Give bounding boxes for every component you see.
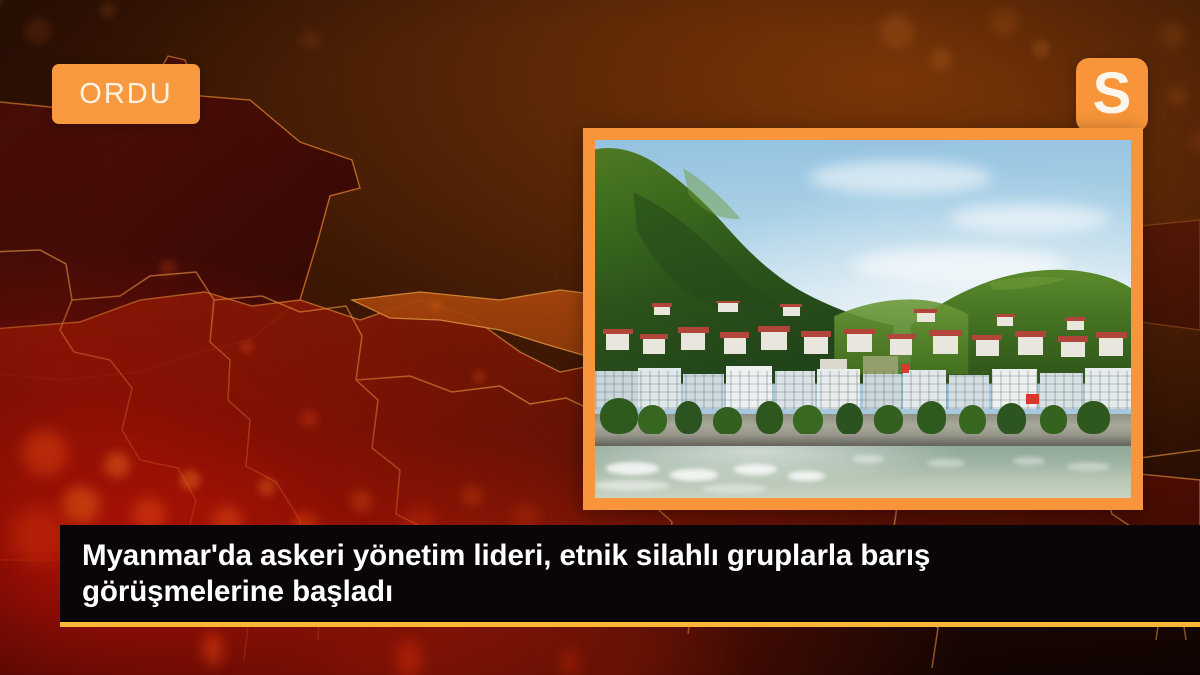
photo-frame xyxy=(583,128,1143,510)
headline-accent-rule xyxy=(60,622,1200,627)
brand-logo-letter: S xyxy=(1093,65,1132,123)
news-card: ORDU S xyxy=(0,0,1200,675)
headline-text: Myanmar'da askeri yönetim lideri, etnik … xyxy=(60,538,1140,611)
headline-bar: Myanmar'da askeri yönetim lideri, etnik … xyxy=(60,525,1200,623)
region-badge[interactable]: ORDU xyxy=(52,64,200,124)
region-badge-label: ORDU xyxy=(79,80,172,109)
brand-logo[interactable]: S xyxy=(1076,58,1148,132)
ordu-coastal-city-photo xyxy=(595,140,1131,498)
